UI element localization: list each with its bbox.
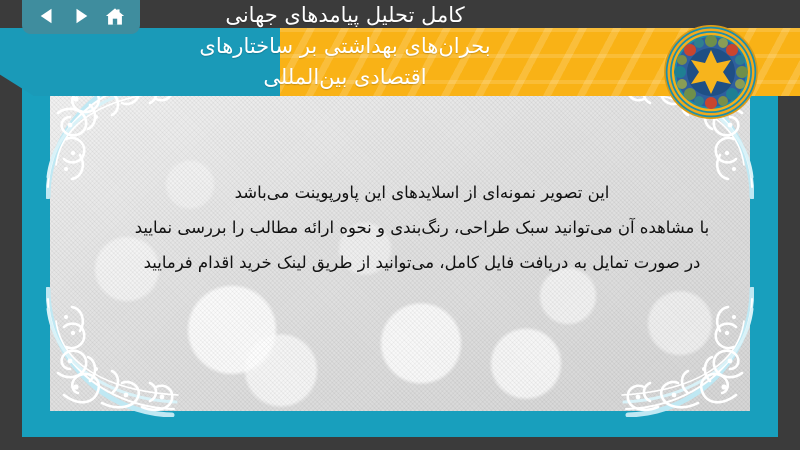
slide-body-line: این تصویر نمونه‌ای از اسلایدهای این پاور… [62, 175, 778, 210]
navigation-panel [22, 0, 140, 34]
back-button[interactable] [34, 4, 60, 28]
home-button[interactable] [102, 4, 128, 28]
persian-medallion-icon [663, 24, 759, 120]
slide-viewer: این تصویر نمونه‌ای از اسلایدهای این پاور… [0, 0, 800, 450]
slide-body-line: با مشاهده آن می‌توانید سبک طراحی، رنگ‌بن… [62, 210, 778, 245]
next-button[interactable] [68, 4, 94, 28]
slide-body: این تصویر نمونه‌ای از اسلایدهای این پاور… [62, 175, 778, 280]
slide-body-line: در صورت تمایل به دریافت فایل کامل، می‌تو… [62, 245, 778, 280]
